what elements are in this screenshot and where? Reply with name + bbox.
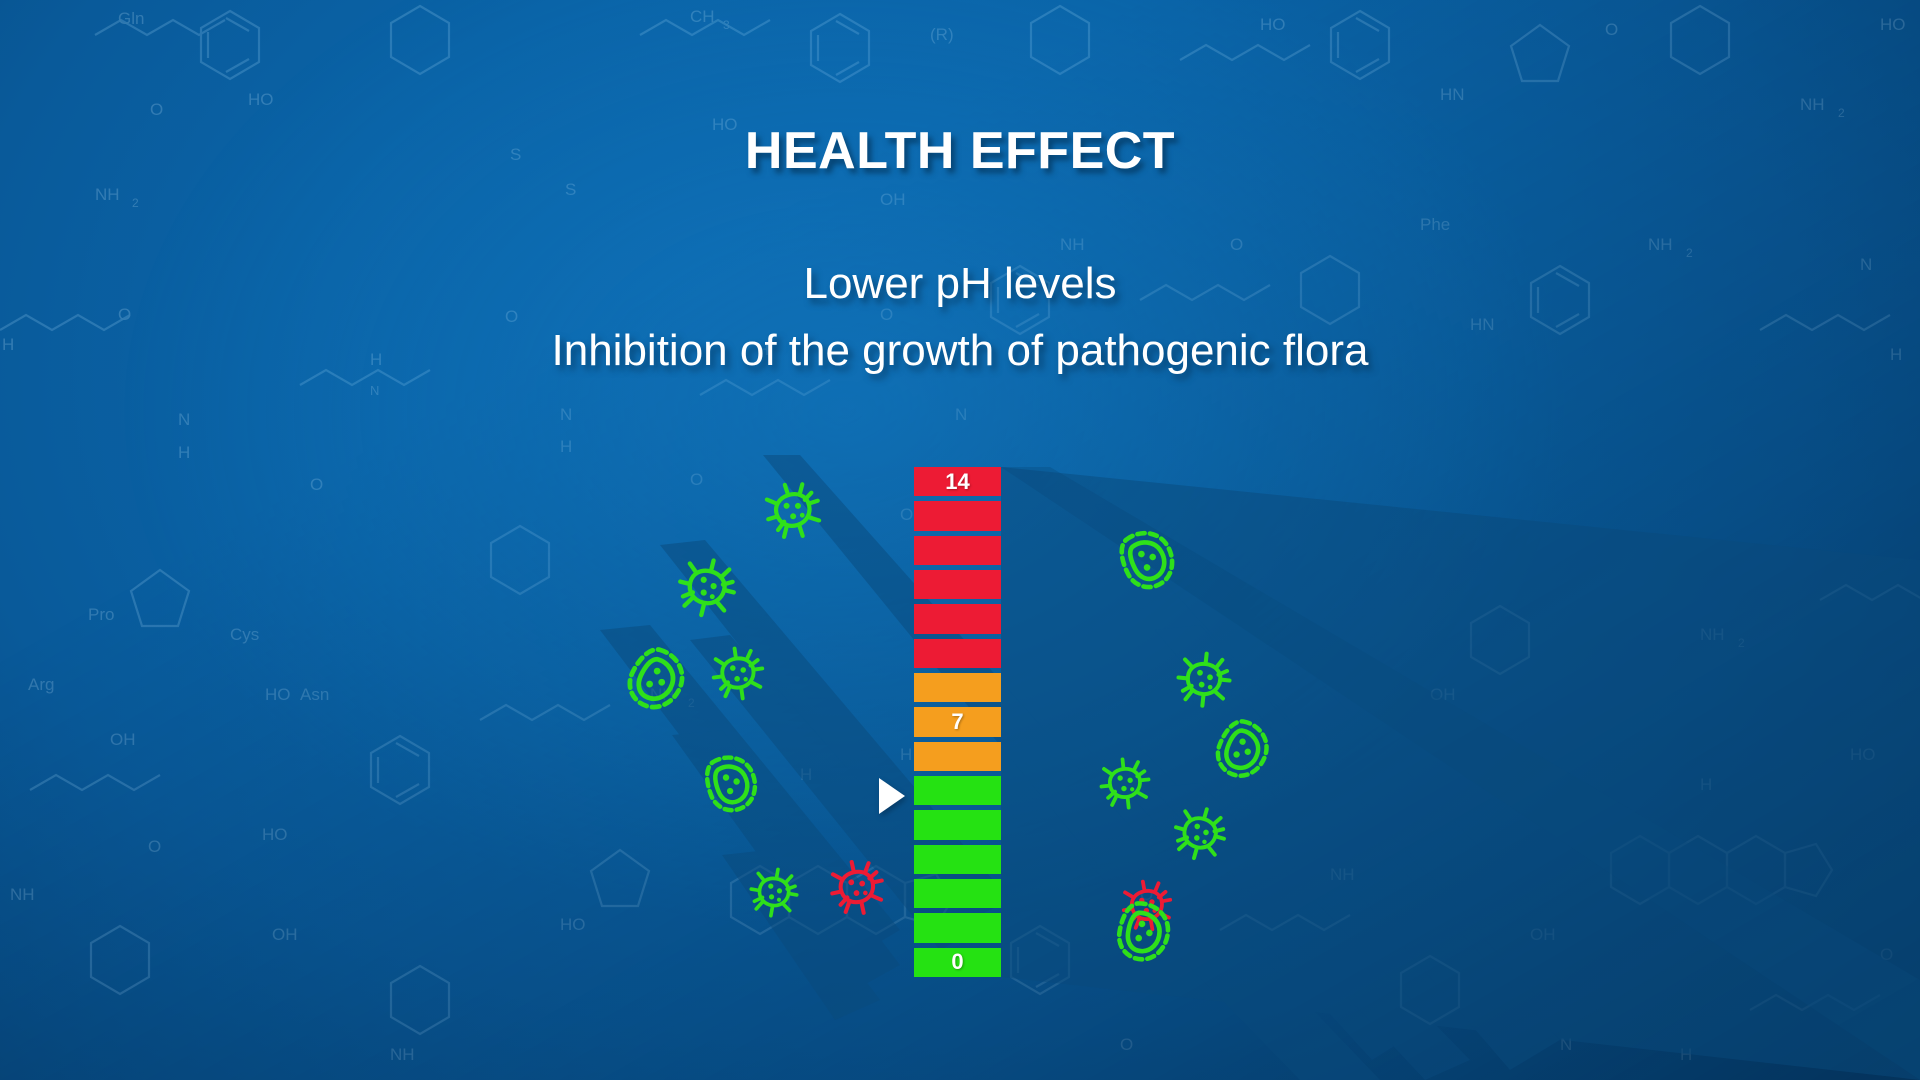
microbe-bacillus-icon bbox=[613, 634, 703, 724]
microbe-coccus-icon bbox=[823, 853, 892, 922]
microbe-coccus-icon bbox=[1165, 798, 1234, 867]
ph-scale: 1470 bbox=[914, 467, 1001, 977]
ph-segment-10 bbox=[914, 604, 1001, 633]
subtitle-block: Lower pH levels Inhibition of the growth… bbox=[0, 250, 1920, 384]
svg-text:NH: NH bbox=[390, 1045, 415, 1064]
svg-text:O: O bbox=[690, 470, 703, 489]
svg-text:OH: OH bbox=[110, 730, 136, 749]
svg-text:H: H bbox=[1700, 775, 1712, 794]
microbe-coccus-icon bbox=[744, 862, 804, 922]
svg-text:NH: NH bbox=[1800, 95, 1825, 114]
microbe-coccus-icon bbox=[1172, 647, 1236, 711]
svg-text:H: H bbox=[1680, 1045, 1692, 1064]
svg-text:S: S bbox=[565, 180, 576, 199]
microbe-coccus-icon bbox=[706, 641, 769, 704]
ph-segment-14: 14 bbox=[914, 467, 1001, 496]
microbe-coccus-icon bbox=[669, 549, 744, 624]
svg-text:HO: HO bbox=[1260, 15, 1286, 34]
svg-text:OH: OH bbox=[1430, 685, 1456, 704]
svg-text:NH: NH bbox=[650, 685, 675, 704]
microbe-bacillus-icon bbox=[690, 740, 773, 823]
microbe-coccus-icon bbox=[755, 472, 831, 548]
svg-text:OH: OH bbox=[880, 190, 906, 209]
svg-text:NH: NH bbox=[95, 185, 120, 204]
svg-text:O: O bbox=[150, 100, 163, 119]
svg-text:2: 2 bbox=[688, 696, 695, 710]
svg-text:NH: NH bbox=[10, 885, 35, 904]
svg-text:2: 2 bbox=[132, 196, 139, 210]
page-title: HEALTH EFFECT bbox=[0, 121, 1920, 181]
ph-segment-label: 0 bbox=[951, 951, 963, 973]
svg-text:NH: NH bbox=[1700, 625, 1725, 644]
microbe-coccus-icon bbox=[1095, 753, 1154, 812]
svg-text:O: O bbox=[310, 475, 323, 494]
svg-text:HO: HO bbox=[248, 90, 274, 109]
svg-text:3: 3 bbox=[723, 18, 730, 32]
microbe-bacillus-icon bbox=[1103, 513, 1192, 602]
ph-segment-1 bbox=[914, 913, 1001, 942]
svg-text:Pro: Pro bbox=[88, 605, 114, 624]
svg-text:(R): (R) bbox=[930, 25, 954, 44]
svg-text:H: H bbox=[800, 765, 812, 784]
svg-text:HO: HO bbox=[262, 825, 288, 844]
svg-text:Cys: Cys bbox=[230, 625, 259, 644]
svg-text:NH: NH bbox=[1330, 865, 1355, 884]
ph-segment-4 bbox=[914, 810, 1001, 839]
ph-segment-12 bbox=[914, 536, 1001, 565]
ph-segment-11 bbox=[914, 570, 1001, 599]
ph-segment-7: 7 bbox=[914, 707, 1001, 736]
svg-text:N: N bbox=[178, 410, 190, 429]
svg-text:Asn: Asn bbox=[300, 685, 329, 704]
svg-text:O: O bbox=[148, 837, 161, 856]
microbe-bacillus-icon bbox=[1203, 708, 1285, 790]
ph-segment-8 bbox=[914, 673, 1001, 702]
svg-text:N: N bbox=[1560, 1035, 1572, 1054]
microbe-coccus-icon bbox=[1116, 874, 1179, 937]
svg-text:HO: HO bbox=[265, 685, 291, 704]
svg-text:2: 2 bbox=[1838, 106, 1845, 120]
svg-text:N: N bbox=[560, 405, 572, 424]
svg-text:HO: HO bbox=[1850, 745, 1876, 764]
ph-segment-2 bbox=[914, 879, 1001, 908]
svg-text:HO: HO bbox=[560, 915, 586, 934]
ph-segment-0: 0 bbox=[914, 948, 1001, 977]
svg-text:O: O bbox=[1120, 1035, 1133, 1054]
subtitle-line-1: Lower pH levels bbox=[0, 250, 1920, 317]
svg-text:N: N bbox=[370, 383, 379, 398]
ph-segment-label: 7 bbox=[951, 711, 963, 733]
ph-segment-6 bbox=[914, 742, 1001, 771]
svg-text:HO: HO bbox=[1880, 15, 1906, 34]
svg-text:Gln: Gln bbox=[118, 9, 144, 28]
svg-text:O: O bbox=[1880, 945, 1893, 964]
ph-pointer-arrow bbox=[879, 778, 905, 814]
microbe-bacillus-icon bbox=[1108, 894, 1183, 969]
svg-text:H: H bbox=[560, 437, 572, 456]
svg-text:H: H bbox=[178, 443, 190, 462]
svg-text:Phe: Phe bbox=[1420, 215, 1450, 234]
svg-text:H: H bbox=[900, 745, 912, 764]
svg-text:HN: HN bbox=[1440, 85, 1465, 104]
svg-text:N: N bbox=[955, 405, 967, 424]
slide-canvas: Gln O NH2 HO S CH3 HO OH (R) HO HN O bbox=[0, 0, 1920, 1080]
ph-segment-13 bbox=[914, 501, 1001, 530]
ph-segment-label: 14 bbox=[945, 471, 969, 493]
svg-text:OH: OH bbox=[1530, 925, 1556, 944]
svg-text:CH: CH bbox=[690, 7, 715, 26]
subtitle-line-2: Inhibition of the growth of pathogenic f… bbox=[0, 317, 1920, 384]
svg-text:Arg: Arg bbox=[28, 675, 54, 694]
svg-text:O: O bbox=[1140, 885, 1153, 904]
svg-text:O: O bbox=[1605, 20, 1618, 39]
ph-segment-5 bbox=[914, 776, 1001, 805]
svg-text:OH: OH bbox=[272, 925, 298, 944]
svg-text:2: 2 bbox=[1738, 636, 1745, 650]
ph-segment-3 bbox=[914, 845, 1001, 874]
ph-segment-9 bbox=[914, 639, 1001, 668]
